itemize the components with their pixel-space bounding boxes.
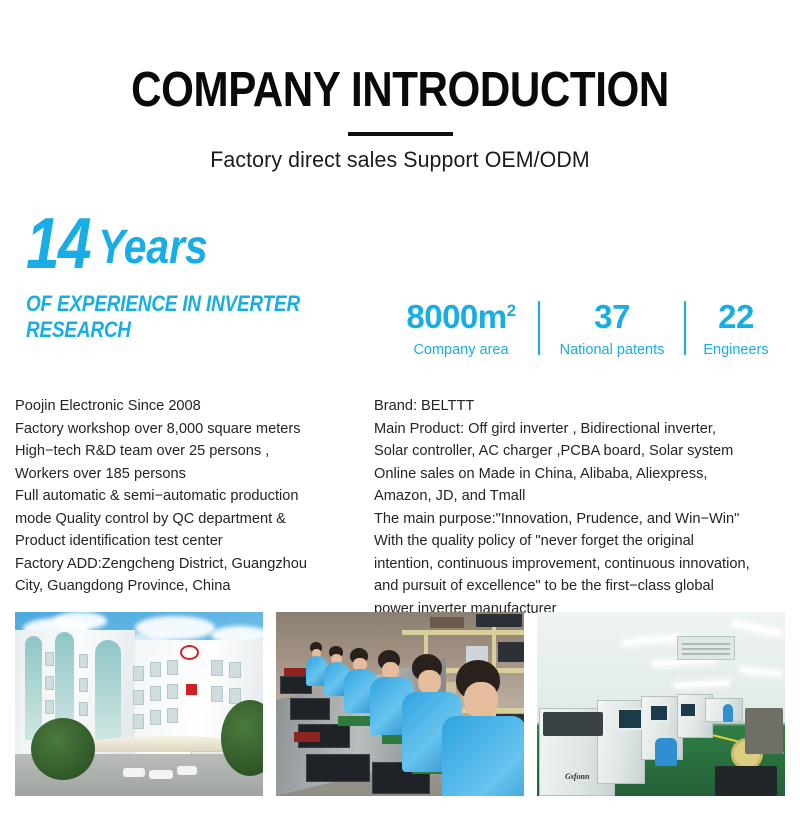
building-chinese-sign [183,658,199,720]
stat-engineers-value: 22 [718,300,754,335]
parked-car [149,770,173,779]
window [133,714,144,729]
stats-row: 8000m2 Company area 37 National patents … [386,300,786,358]
years-caption: OF EXPERIENCE IN INVERTER RESEARCH [26,291,361,343]
component-tray [306,754,370,782]
stat-company-area-value: 8000m2 [406,300,515,335]
glass-arch [95,640,121,740]
stat-divider-1 [538,301,540,355]
company-facts-column: Poojin Electronic Since 2008 Factory wor… [15,395,367,598]
title-divider-rule [348,132,453,136]
ceiling-ac-unit [677,636,735,660]
window [167,660,178,675]
window [167,684,178,699]
machine-brand-label: Gsfonn [565,772,589,781]
window [133,666,144,681]
years-number: 14 [26,215,90,274]
window [211,660,223,676]
assembly-line-photo [276,612,524,796]
machine-window [543,712,603,736]
stored-box [476,614,522,627]
window [167,708,178,723]
window [133,690,144,705]
cloud-shape [53,612,107,630]
parked-car [123,768,145,777]
stat-company-area: 8000m2 Company area [386,300,536,358]
red-part [294,732,320,742]
stat-national-patents-label: National patents [560,342,665,358]
window [45,652,54,666]
stored-box [430,617,464,628]
factory-building-photo [15,612,263,796]
company-introduction-page: COMPANY INTRODUCTION Factory direct sale… [0,0,800,839]
window [79,678,88,692]
window [211,686,223,702]
years-unit-label: Years [98,225,208,271]
floor-equipment [715,766,777,796]
window [79,702,88,716]
parked-car [177,766,197,775]
stat-company-area-label: Company area [413,342,508,358]
square-meter-superscript: 2 [507,301,516,320]
page-subtitle: Factory direct sales Support OEM/ODM [12,147,788,173]
red-part [284,668,306,676]
component-tray [290,698,330,720]
window [150,710,161,725]
window [79,654,88,668]
stored-box [498,642,524,662]
machine-display [679,702,697,718]
stat-engineers: 22 Engineers [688,300,784,358]
cart [745,708,783,754]
stat-national-patents-value: 37 [594,300,630,335]
window [150,662,161,677]
window [45,700,54,714]
tree-shape [31,718,95,780]
window [150,686,161,701]
stat-divider-2 [684,301,686,355]
technician [655,738,677,766]
years-experience-block: 14 Years OF EXPERIENCE IN INVERTER RESEA… [26,215,366,343]
machine-display [649,704,669,722]
machine-display [617,708,643,730]
stat-engineers-label: Engineers [703,342,768,358]
smt-workshop-photo: Gsfonn [537,612,785,796]
storage-shelf [402,630,524,635]
window [229,662,241,678]
page-title: COMPANY INTRODUCTION [56,66,744,115]
photo-gallery: Gsfonn [15,612,785,796]
technician [723,704,733,722]
glass-arch [25,636,42,740]
header-section: COMPANY INTRODUCTION Factory direct sale… [0,0,800,173]
brand-products-column: Brand: BELTTT Main Product: Off gird inv… [374,395,788,620]
years-headline: 14 Years [26,215,366,274]
stat-national-patents: 37 National patents [542,300,682,358]
window [45,676,54,690]
